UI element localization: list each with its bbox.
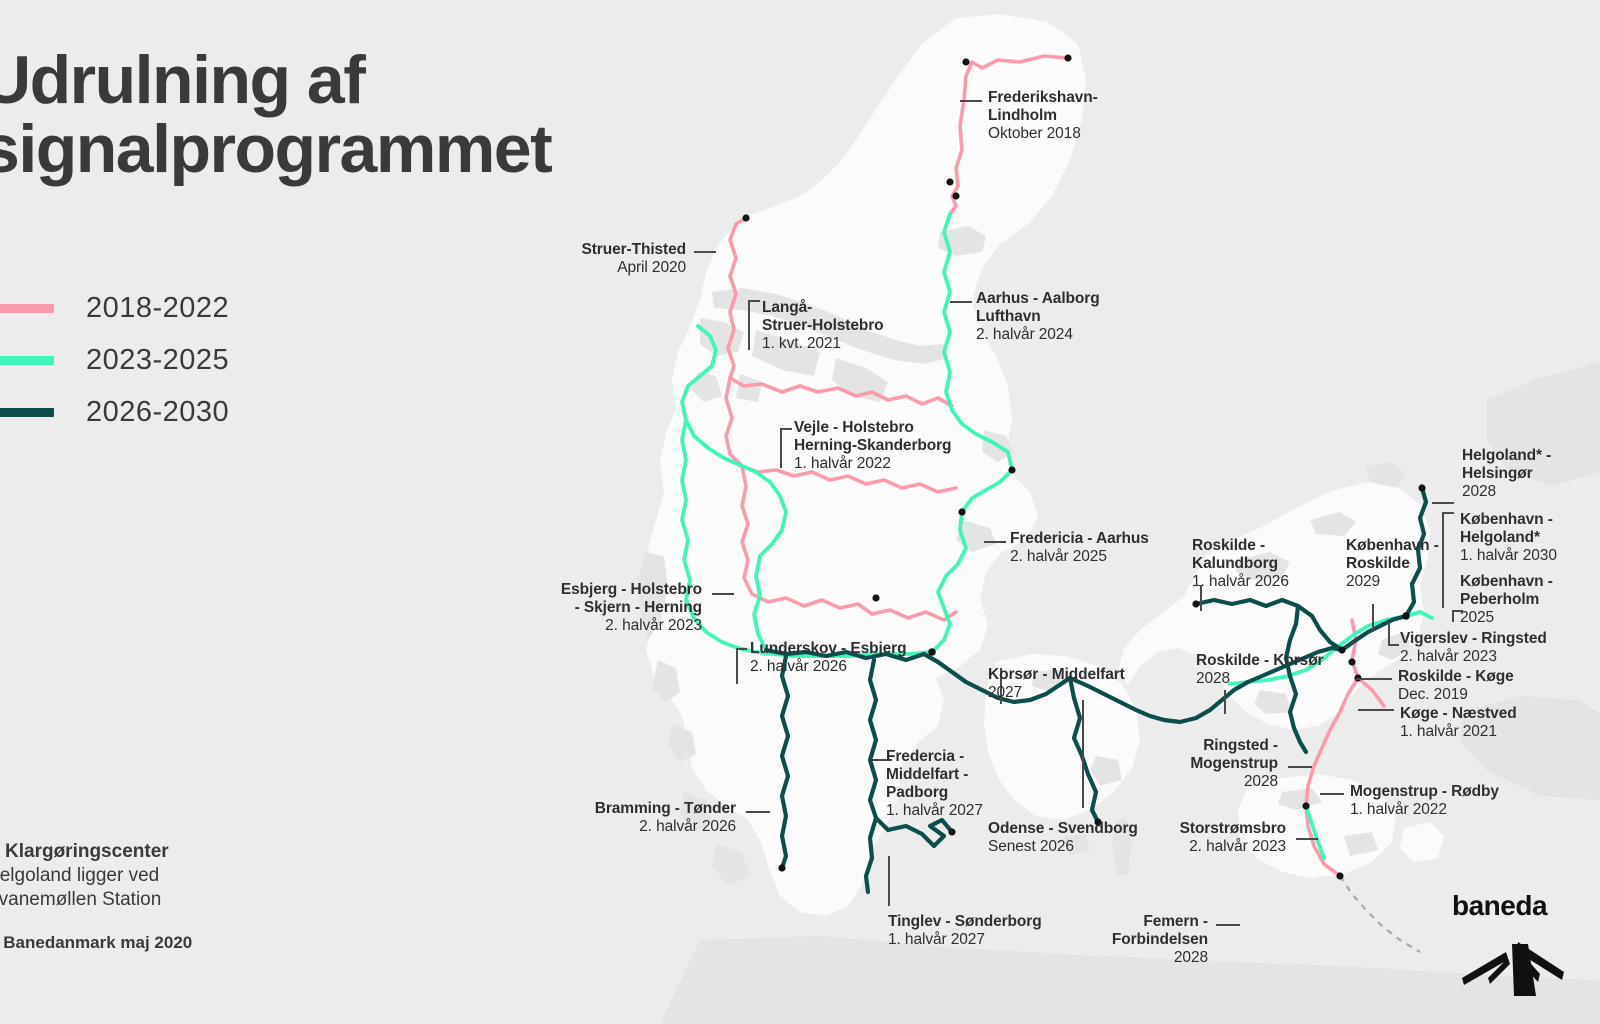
callout-kobenhavn-roskilde: København - Roskilde 2029: [1346, 537, 1476, 592]
leader-esbjerg-holstebro: [712, 593, 734, 595]
callout-name: Ringsted - Mogenstrup: [1120, 737, 1278, 773]
callout-aarhus-aalborg-lufthavn: Aarhus - Aalborg Lufthavn 2. halvår 2024: [976, 290, 1176, 345]
legend-label-2026-2030: 2026-2030: [86, 396, 229, 429]
callout-date: 2. halvår 2025: [1010, 548, 1210, 567]
legend-swatch-2023-2025: [0, 356, 54, 365]
callout-date: April 2020: [480, 259, 686, 278]
callout-date: 2028: [1196, 670, 1376, 689]
callout-name: Bramming - Tønder: [520, 800, 736, 818]
callout-helgoland-helsingor: Helgoland* - Helsingør 2028: [1462, 447, 1600, 502]
footnote: *) Klargøringscenter Helgoland ligger ve…: [0, 840, 286, 953]
leader-tinglev-sonderborg: [888, 856, 890, 906]
legend-swatch-2018-2022: [0, 304, 54, 313]
callout-date: 2. halvår 2024: [976, 326, 1176, 345]
legend-item-2018-2022: 2018-2022: [0, 282, 229, 334]
leader-aarhus-aalborg-lufthavn: [950, 301, 972, 303]
leader-odense-svendborg: [1082, 700, 1084, 808]
leader-roskilde-korsor: [1224, 690, 1226, 714]
callout-name: Fredericia - Aarhus: [1010, 530, 1210, 548]
callout-name: Aarhus - Aalborg Lufthavn: [976, 290, 1176, 326]
callout-struer-thisted: Struer-Thisted April 2020: [480, 241, 686, 278]
copyright-notice: © Banedanmark maj 2020: [0, 933, 286, 953]
callout-date: 2025: [1460, 609, 1600, 628]
callout-name: Storstrømsbro: [1120, 820, 1286, 838]
callout-name: Helgoland* - Helsingør: [1462, 447, 1600, 483]
leader-femern-forbindelsen: [1216, 924, 1240, 926]
callout-name: Femern - Forbindelsen: [1060, 913, 1208, 949]
callout-name: Vigerslev - Ringsted: [1400, 630, 1590, 648]
callout-esbjerg-holstebro-skjern-herning: Esbjerg - Holstebro - Skjern - Herning 2…: [480, 581, 702, 636]
legend: 2018-2022 2023-2025 2026-2030: [0, 282, 229, 438]
callout-fredericia-aarhus: Fredericia - Aarhus 2. halvår 2025: [1010, 530, 1210, 567]
callout-date: Dec. 2019: [1398, 686, 1588, 705]
callout-date: 2029: [1346, 573, 1476, 592]
bracket-langa-struer-holstebro: [748, 300, 760, 350]
page-title: Udrulning afsignalprogrammet: [0, 46, 742, 185]
legend-label-2018-2022: 2018-2022: [86, 292, 229, 325]
callout-name: Roskilde - Køge: [1398, 668, 1588, 686]
callout-bramming-tonder: Bramming - Tønder 2. halvår 2026: [520, 800, 736, 837]
callout-name: Langå- Struer-Holstebro: [762, 299, 962, 335]
callout-date: 2028: [1120, 773, 1278, 792]
callout-date: Oktober 2018: [988, 125, 1168, 144]
callout-date: 1. halvår 2022: [794, 455, 1044, 474]
callout-name: Mogenstrup - Rødby: [1350, 783, 1550, 801]
leader-roskilde-koge: [1356, 678, 1392, 680]
callout-kobenhavn-peberholm: København - Peberholm 2025: [1460, 573, 1600, 628]
leader-koge-naestved: [1358, 709, 1394, 711]
leader-kobenhavn-roskilde: [1372, 604, 1374, 632]
leader-frederikshavn-lindholm: [960, 100, 982, 102]
callout-date: 2. halvår 2026: [520, 818, 736, 837]
callout-roskilde-kalundborg: Roskilde - Kalundborg 1. halvår 2026: [1192, 537, 1372, 592]
bracket-vigerslev-ringsted: [1388, 622, 1399, 646]
callout-date: 1. halvår 2026: [1192, 573, 1372, 592]
leader-helgoland-helsingor: [1432, 502, 1454, 504]
logo-wordmark: baneda: [1452, 892, 1547, 920]
leader-bramming-tonder: [746, 811, 770, 813]
callout-korsor-middelfart: Korsør - Middelfart 2027: [988, 666, 1188, 703]
callout-date: 1. halvår 2030: [1460, 547, 1600, 566]
callout-kobenhavn-helgoland: København - Helgoland* 1. halvår 2030: [1460, 511, 1600, 566]
callout-name: Vejle - Holstebro Herning-Skanderborg: [794, 419, 1044, 455]
callout-date: 2028: [1060, 949, 1208, 968]
callout-date: 2. halvår 2026: [750, 658, 960, 677]
callout-name: Struer-Thisted: [480, 241, 686, 259]
callout-ringsted-mogenstrup: Ringsted - Mogenstrup 2028: [1120, 737, 1278, 792]
callout-storstromsbro: Storstrømsbro 2. halvår 2023: [1120, 820, 1286, 857]
bracket-kobenhavn-helgoland: [1442, 512, 1454, 608]
callout-name: Lunderskov - Esbjerg: [750, 640, 960, 658]
callout-date: 2027: [988, 684, 1188, 703]
footnote-line-2: Svanemøllen Station: [0, 888, 286, 912]
bracket-lunderskov-esbjerg: [736, 648, 747, 684]
callout-mogenstrup-rodby: Mogenstrup - Rødby 1. halvår 2022: [1350, 783, 1550, 820]
callout-name: Fredercia - Middelfart - Padborg: [886, 748, 1046, 802]
callout-name: Esbjerg - Holstebro - Skjern - Herning: [480, 581, 702, 617]
banedanmark-logo: baneda: [1444, 886, 1600, 996]
callout-vigerslev-ringsted: Vigerslev - Ringsted 2. halvår 2023: [1400, 630, 1590, 667]
callout-date: 1. halvår 2027: [886, 802, 1046, 821]
legend-label-2023-2025: 2023-2025: [86, 344, 229, 377]
leader-ringsted-mogenstrup: [1288, 766, 1312, 768]
callout-name: Frederikshavn- Lindholm: [988, 89, 1168, 125]
page-title-line2: signalprogrammet: [0, 111, 551, 187]
callout-date: 1. halvår 2022: [1350, 801, 1550, 820]
infographic-canvas: .land { fill:#fbfbfb; } .shade { fill:#e…: [0, 0, 1600, 1024]
footnote-line-1: Helgoland ligger ved: [0, 864, 286, 888]
leader-storstromsbro: [1296, 838, 1318, 840]
callout-roskilde-korsor: Roskilde - Korsør 2028: [1196, 652, 1376, 689]
leader-fredericia-aarhus: [984, 541, 1006, 543]
bracket-vejle-holstebro: [780, 428, 792, 468]
legend-swatch-2026-2030: [0, 408, 54, 417]
callout-vejle-holstebro-herning-skanderborg: Vejle - Holstebro Herning-Skanderborg 1.…: [794, 419, 1044, 474]
legend-item-2023-2025: 2023-2025: [0, 334, 229, 386]
callout-name: Roskilde - Kalundborg: [1192, 537, 1372, 573]
page-title-line1: Udrulning af: [0, 42, 364, 118]
callout-koge-naestved: Køge - Næstved 1. halvår 2021: [1400, 705, 1590, 742]
callout-name: Køge - Næstved: [1400, 705, 1590, 723]
callout-langa-struer-holstebro: Langå- Struer-Holstebro 1. kvt. 2021: [762, 299, 962, 354]
callout-date: 2028: [1462, 483, 1600, 502]
callout-date: 2. halvår 2023: [1120, 838, 1286, 857]
legend-item-2026-2030: 2026-2030: [0, 386, 229, 438]
callout-date: 1. halvår 2021: [1400, 723, 1590, 742]
callout-fredercia-middelfart-padborg: Fredercia - Middelfart - Padborg 1. halv…: [886, 748, 1046, 821]
callout-date: 1. kvt. 2021: [762, 335, 962, 354]
callout-date: 2. halvår 2023: [480, 617, 702, 636]
leader-struer-thisted: [694, 251, 716, 253]
footnote-heading: *) Klargøringscenter: [0, 840, 286, 864]
callout-name: København - Roskilde: [1346, 537, 1476, 573]
leader-mogenstrup-rodby: [1320, 793, 1344, 795]
callout-name: Korsør - Middelfart: [988, 666, 1188, 684]
callout-name: København - Peberholm: [1460, 573, 1600, 609]
callout-roskilde-koge: Roskilde - Køge Dec. 2019: [1398, 668, 1588, 705]
callout-lunderskov-esbjerg: Lunderskov - Esbjerg 2. halvår 2026: [750, 640, 960, 677]
callout-femern-forbindelsen: Femern - Forbindelsen 2028: [1060, 913, 1208, 968]
callout-name: København - Helgoland*: [1460, 511, 1600, 547]
callout-date: 2. halvår 2023: [1400, 648, 1590, 667]
callout-frederikshavn-lindholm: Frederikshavn- Lindholm Oktober 2018: [988, 89, 1168, 144]
callout-name: Roskilde - Korsør: [1196, 652, 1376, 670]
